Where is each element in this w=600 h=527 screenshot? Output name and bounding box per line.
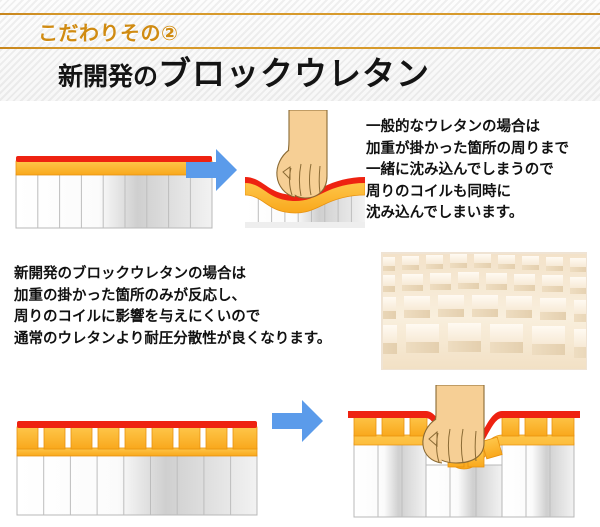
block-urethane-description: 新開発のブロックウレタンの場合は 加重の掛かった箇所のみが反応し、 周りのコイル… — [14, 264, 331, 350]
arrow-icon-top — [186, 147, 238, 193]
diagram-normal-urethane-at-rest — [14, 150, 214, 230]
section-eyebrow: こだわりその② — [38, 17, 178, 46]
desc-line: 一緒に沈み込んでしまうので — [366, 160, 569, 182]
infographic-page: こだわりその② 新開発のブロックウレタン — [0, 0, 600, 527]
arrow-icon-bottom — [272, 398, 324, 444]
page-title: 新開発のブロックウレタン — [58, 57, 430, 90]
diagram-normal-urethane-pressed — [245, 110, 365, 228]
desc-line: 新開発のブロックウレタンの場合は — [14, 264, 331, 286]
diagram-block-urethane-at-rest — [14, 405, 264, 523]
desc-line: 加重の掛かった箇所のみが反応し、 — [14, 286, 331, 308]
desc-line: 通常のウレタンより耐圧分散性が良くなります。 — [14, 329, 331, 351]
desc-line: 周りのコイルに影響を与えにくいので — [14, 307, 331, 329]
header-rule-top — [0, 13, 600, 15]
desc-line: 周りのコイルも同時に — [366, 182, 569, 204]
desc-line: 沈み込んでしまいます。 — [366, 203, 569, 225]
desc-line: 加重が掛かった箇所の周りまで — [366, 139, 569, 161]
desc-line: 一般的なウレタンの場合は — [366, 117, 569, 139]
header-rule-bottom — [0, 47, 600, 49]
page-title-prefix: 新開発の — [58, 62, 158, 91]
page-title-main: ブロックウレタン — [158, 54, 430, 93]
header-band: こだわりその② 新開発のブロックウレタン — [0, 0, 600, 101]
block-urethane-foam-photo — [381, 252, 587, 370]
diagram-block-urethane-pressed — [330, 385, 592, 527]
normal-urethane-description: 一般的なウレタンの場合は 加重が掛かった箇所の周りまで 一緒に沈み込んでしまうの… — [366, 117, 569, 225]
